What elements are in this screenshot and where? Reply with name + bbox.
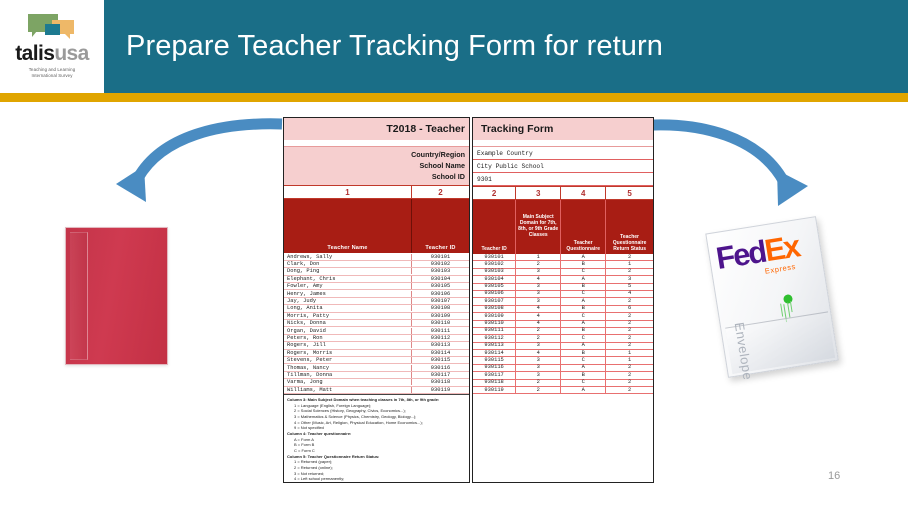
tracking-cell-return-status: 2 bbox=[606, 379, 653, 386]
page-number: 16 bbox=[828, 470, 840, 482]
roster-cell-teacher-id: 930119 bbox=[412, 387, 469, 393]
roster-spacer bbox=[284, 140, 469, 147]
roster-column-numbers: 1 2 bbox=[284, 185, 469, 199]
roster-cell-teacher-id: 930104 bbox=[412, 276, 469, 282]
tracking-cell-subject-domain: 3 bbox=[516, 283, 561, 290]
arrow-left-icon bbox=[100, 120, 285, 220]
tracking-colnum-3: 3 bbox=[516, 187, 561, 199]
tracking-cell-teacher-id: 930107 bbox=[473, 298, 516, 305]
roster-cell-teacher-name: Williams, Matt bbox=[284, 387, 412, 393]
tracking-cell-questionnaire: A bbox=[561, 276, 606, 283]
tracking-cell-questionnaire: B bbox=[561, 327, 606, 334]
roster-cell-teacher-id: 930118 bbox=[412, 379, 469, 385]
roster-row: Varma, Jong930118 bbox=[284, 379, 469, 386]
tracking-cell-return-status: 2 bbox=[606, 298, 653, 305]
tracking-cell-teacher-id: 930113 bbox=[473, 342, 516, 349]
tracking-cell-subject-domain: 2 bbox=[516, 387, 561, 394]
roster-row: Long, Anita930108 bbox=[284, 305, 469, 312]
envelope-flap bbox=[70, 232, 88, 360]
roster-row: Henry, James930106 bbox=[284, 290, 469, 297]
tracking-cell-return-status: 3 bbox=[606, 276, 653, 283]
roster-cell-teacher-name: Stevens, Peter bbox=[284, 357, 412, 363]
tracking-cell-subject-domain: 4 bbox=[516, 350, 561, 357]
roster-cell-teacher-name: Fowler, Amy bbox=[284, 283, 412, 289]
roster-meta-country: Country/Region bbox=[284, 149, 465, 160]
roster-legend: Column 3: Main Subject Domain when teach… bbox=[284, 394, 469, 483]
roster-row: Elephant, Chris930104 bbox=[284, 276, 469, 283]
roster-cell-teacher-id: 930112 bbox=[412, 335, 469, 341]
tracking-cell-return-status: 2 bbox=[606, 335, 653, 342]
logo-word-usa: usa bbox=[54, 42, 88, 65]
roster-colnum-2: 2 bbox=[412, 186, 469, 198]
tracking-cell-questionnaire: A bbox=[561, 320, 606, 327]
tracking-cell-questionnaire: B bbox=[561, 283, 606, 290]
roster-cell-teacher-id: 930114 bbox=[412, 350, 469, 356]
tracking-cell-teacher-id: 930114 bbox=[473, 350, 516, 357]
logo-wordmark: talisusa bbox=[15, 43, 88, 64]
roster-cell-teacher-name: Varma, Jong bbox=[284, 379, 412, 385]
roster-cell-teacher-name: Long, Anita bbox=[284, 305, 412, 311]
tracking-cell-return-status: 2 bbox=[606, 342, 653, 349]
tracking-cell-subject-domain: 2 bbox=[516, 261, 561, 268]
page-title: Prepare Teacher Tracking Form for return bbox=[104, 30, 663, 63]
roster-row: Clark, Don930102 bbox=[284, 261, 469, 268]
tracking-cell-subject-domain: 2 bbox=[516, 335, 561, 342]
logo-word-talis: talis bbox=[15, 42, 54, 65]
tracking-cell-teacher-id: 930102 bbox=[473, 261, 516, 268]
arrow-right-icon bbox=[632, 120, 817, 220]
tracking-cell-questionnaire: C bbox=[561, 313, 606, 320]
roster-cell-teacher-name: Peters, Ron bbox=[284, 335, 412, 341]
roster-cell-teacher-id: 930117 bbox=[412, 372, 469, 378]
roster-cell-teacher-id: 930111 bbox=[412, 328, 469, 334]
roster-cell-teacher-name: Tillman, Donna bbox=[284, 372, 412, 378]
roster-cell-teacher-id: 930115 bbox=[412, 357, 469, 363]
red-envelope-image bbox=[65, 227, 168, 365]
fedex-envelope-body: FedEx Express Envelope bbox=[705, 216, 838, 378]
roster-cell-teacher-id: 930105 bbox=[412, 283, 469, 289]
roster-cell-teacher-id: 930113 bbox=[412, 342, 469, 348]
tracking-cell-teacher-id: 930119 bbox=[473, 387, 516, 394]
tracking-cell-return-status: 2 bbox=[606, 313, 653, 320]
tracking-cell-teacher-id: 930115 bbox=[473, 357, 516, 364]
logo-tagline-line2: International Survey bbox=[29, 73, 76, 79]
tracking-cell-questionnaire: A bbox=[561, 364, 606, 371]
roster-header-teacher-name: Teacher Name bbox=[284, 199, 412, 253]
tracking-cell-subject-domain: 3 bbox=[516, 298, 561, 305]
tracking-cell-questionnaire: C bbox=[561, 379, 606, 386]
teacher-roster-document[interactable]: T2018 - Teacher Country/Region School Na… bbox=[283, 117, 470, 483]
tracking-header-return-status: Teacher Questionnaire Return Status bbox=[606, 200, 653, 254]
tracking-cell-teacher-id: 930111 bbox=[473, 327, 516, 334]
tracking-header-subject-domain: Main Subject Domain for 7th, 8th, or 9th… bbox=[516, 200, 561, 254]
roster-cell-teacher-id: 930102 bbox=[412, 261, 469, 267]
slide-body: T2018 - Teacher Country/Region School Na… bbox=[0, 102, 908, 511]
tracking-cell-questionnaire: C bbox=[561, 290, 606, 297]
tracking-cell-return-status: 5 bbox=[606, 283, 653, 290]
tracking-cell-questionnaire: C bbox=[561, 268, 606, 275]
tracking-cell-subject-domain: 3 bbox=[516, 357, 561, 364]
tracking-header-row: Teacher ID Main Subject Domain for 7th, … bbox=[473, 200, 653, 254]
tracking-cell-subject-domain: 4 bbox=[516, 320, 561, 327]
tracking-colnum-4: 4 bbox=[561, 187, 606, 199]
roster-cell-teacher-id: 930107 bbox=[412, 298, 469, 304]
tracking-header-questionnaire: Teacher Questionnaire bbox=[561, 200, 606, 254]
roster-cell-teacher-name: Clark, Don bbox=[284, 261, 412, 267]
roster-header-teacher-id: Teacher ID bbox=[412, 199, 469, 253]
roster-row: Williams, Matt930119 bbox=[284, 387, 469, 394]
roster-cell-teacher-name: Organ, David bbox=[284, 328, 412, 334]
roster-cell-teacher-name: Nicks, Donna bbox=[284, 320, 412, 326]
roster-row: Thomas, Nancy930116 bbox=[284, 364, 469, 371]
tracking-cell-questionnaire: B bbox=[561, 261, 606, 268]
roster-cell-teacher-id: 930106 bbox=[412, 291, 469, 297]
tracking-cell-subject-domain: 1 bbox=[516, 254, 561, 261]
tracking-cell-teacher-id: 930110 bbox=[473, 320, 516, 327]
tracking-cell-teacher-id: 930109 bbox=[473, 313, 516, 320]
roster-row: Organ, David930111 bbox=[284, 327, 469, 334]
tracking-cell-subject-domain: 4 bbox=[516, 305, 561, 312]
roster-row: Morris, Patty930109 bbox=[284, 313, 469, 320]
roster-cell-teacher-name: Thomas, Nancy bbox=[284, 365, 412, 371]
tracking-colnum-2: 2 bbox=[473, 187, 516, 199]
tracking-cell-subject-domain: 2 bbox=[516, 379, 561, 386]
roster-row: Stevens, Peter930115 bbox=[284, 357, 469, 364]
talis-usa-logo: talisusa Teaching and Learning Internati… bbox=[0, 0, 104, 93]
logo-tagline: Teaching and Learning International Surv… bbox=[29, 67, 76, 79]
tracking-colnum-5: 5 bbox=[606, 187, 653, 199]
roster-cell-teacher-name: Henry, James bbox=[284, 291, 412, 297]
tracking-cell-teacher-id: 930101 bbox=[473, 254, 516, 261]
tracking-cell-questionnaire: B bbox=[561, 350, 606, 357]
roster-cell-teacher-name: Rogers, Jill bbox=[284, 342, 412, 348]
tracking-spacer bbox=[473, 140, 653, 147]
roster-meta-school-id: School ID bbox=[284, 171, 465, 182]
tracking-form-document[interactable]: Tracking Form Example Country City Publi… bbox=[472, 117, 654, 483]
roster-row: Dong, Ping930103 bbox=[284, 268, 469, 275]
roster-row: Jay, Judy930107 bbox=[284, 298, 469, 305]
roster-row: Tillman, Donna930117 bbox=[284, 372, 469, 379]
roster-colnum-1: 1 bbox=[284, 186, 412, 198]
tracking-cell-return-status: 2 bbox=[606, 320, 653, 327]
tracking-meta-school-id: 9301 bbox=[473, 173, 653, 186]
tracking-cell-teacher-id: 930106 bbox=[473, 290, 516, 297]
grass-blade-icon bbox=[790, 301, 793, 312]
tracking-row: 9301192A2 bbox=[473, 387, 653, 394]
tracking-cell-return-status: 2 bbox=[606, 387, 653, 394]
tracking-cell-subject-domain: 3 bbox=[516, 372, 561, 379]
roster-cell-teacher-name: Jay, Judy bbox=[284, 298, 412, 304]
speech-bubble-teal-icon bbox=[45, 24, 60, 35]
roster-cell-teacher-id: 930109 bbox=[412, 313, 469, 319]
roster-table-body: Andrews, Sally930101Clark, Don930102Dong… bbox=[284, 253, 469, 393]
tracking-cell-teacher-id: 930116 bbox=[473, 364, 516, 371]
slide-header: talisusa Teaching and Learning Internati… bbox=[0, 0, 908, 93]
tracking-cell-return-status: 2 bbox=[606, 364, 653, 371]
roster-meta-school-name: School Name bbox=[284, 160, 465, 171]
tracking-cell-return-status: 1 bbox=[606, 357, 653, 364]
tracking-cell-teacher-id: 930103 bbox=[473, 268, 516, 275]
fedex-logo-fed: Fed bbox=[714, 234, 768, 276]
tracking-meta-school-name: City Public School bbox=[473, 160, 653, 173]
roster-cell-teacher-id: 930110 bbox=[412, 320, 469, 326]
tracking-cell-return-status: 1 bbox=[606, 261, 653, 268]
roster-cell-teacher-id: 930103 bbox=[412, 268, 469, 274]
title-bar: Prepare Teacher Tracking Form for return bbox=[104, 0, 908, 93]
roster-title: T2018 - Teacher bbox=[284, 118, 469, 140]
tracking-cell-subject-domain: 3 bbox=[516, 268, 561, 275]
tracking-cell-subject-domain: 2 bbox=[516, 327, 561, 334]
tracking-cell-return-status: 2 bbox=[606, 254, 653, 261]
tracking-cell-questionnaire: A bbox=[561, 387, 606, 394]
roster-cell-teacher-name: Dong, Ping bbox=[284, 268, 412, 274]
speech-bubbles-icon bbox=[22, 14, 82, 42]
gold-accent-bar bbox=[0, 93, 908, 102]
tracking-cell-questionnaire: A bbox=[561, 298, 606, 305]
tracking-cell-teacher-id: 930112 bbox=[473, 335, 516, 342]
roster-header-row: Teacher Name Teacher ID bbox=[284, 199, 469, 253]
fedex-envelope-image: FedEx Express Envelope bbox=[716, 224, 844, 376]
tracking-cell-return-status: 1 bbox=[606, 350, 653, 357]
roster-cell-teacher-name: Elephant, Chris bbox=[284, 276, 412, 282]
tracking-cell-teacher-id: 930104 bbox=[473, 276, 516, 283]
tracking-cell-return-status: 2 bbox=[606, 327, 653, 334]
tracking-cell-teacher-id: 930108 bbox=[473, 305, 516, 312]
tracking-cell-teacher-id: 930118 bbox=[473, 379, 516, 386]
tracking-table-body: 9301011A29301022B19301033C29301044A39301… bbox=[473, 254, 653, 394]
roster-cell-teacher-name: Rogers, Morris bbox=[284, 350, 412, 356]
tracking-header-teacher-id: Teacher ID bbox=[473, 200, 516, 254]
tracking-title: Tracking Form bbox=[473, 118, 653, 140]
roster-cell-teacher-name: Andrews, Sally bbox=[284, 254, 412, 260]
tracking-column-numbers: 2 3 4 5 bbox=[473, 186, 653, 200]
tracking-cell-subject-domain: 3 bbox=[516, 342, 561, 349]
roster-cell-teacher-id: 930101 bbox=[412, 254, 469, 260]
roster-row: Peters, Ron930112 bbox=[284, 335, 469, 342]
tracking-cell-subject-domain: 4 bbox=[516, 313, 561, 320]
legend-heading: Column 3: Main Subject Domain when teach… bbox=[287, 397, 466, 403]
tracking-cell-questionnaire: C bbox=[561, 335, 606, 342]
tracking-cell-teacher-id: 930105 bbox=[473, 283, 516, 290]
tracking-cell-questionnaire: C bbox=[561, 357, 606, 364]
roster-row: Fowler, Amy930105 bbox=[284, 283, 469, 290]
roster-cell-teacher-name: Morris, Patty bbox=[284, 313, 412, 319]
tracking-cell-return-status: 4 bbox=[606, 290, 653, 297]
roster-row: Andrews, Sally930101 bbox=[284, 253, 469, 260]
roster-row: Rogers, Morris930114 bbox=[284, 350, 469, 357]
roster-cell-teacher-id: 930108 bbox=[412, 305, 469, 311]
tracking-cell-teacher-id: 930117 bbox=[473, 372, 516, 379]
tracking-cell-return-status: 6 bbox=[606, 305, 653, 312]
roster-cell-teacher-id: 930116 bbox=[412, 365, 469, 371]
tracking-cell-questionnaire: A bbox=[561, 342, 606, 349]
tracking-cell-subject-domain: 4 bbox=[516, 276, 561, 283]
tracking-cell-questionnaire: B bbox=[561, 305, 606, 312]
roster-meta-block: Country/Region School Name School ID bbox=[284, 147, 469, 185]
legend-item: 5 = Teacher is out-of-scope; bbox=[287, 482, 466, 483]
tracking-cell-subject-domain: 3 bbox=[516, 290, 561, 297]
roster-row: Rogers, Jill930113 bbox=[284, 342, 469, 349]
roster-row: Nicks, Donna930110 bbox=[284, 320, 469, 327]
tracking-cell-questionnaire: A bbox=[561, 254, 606, 261]
tracking-meta-country: Example Country bbox=[473, 147, 653, 160]
tracking-cell-questionnaire: B bbox=[561, 372, 606, 379]
tracking-cell-return-status: 2 bbox=[606, 372, 653, 379]
tracking-cell-subject-domain: 3 bbox=[516, 364, 561, 371]
tracking-cell-return-status: 2 bbox=[606, 268, 653, 275]
